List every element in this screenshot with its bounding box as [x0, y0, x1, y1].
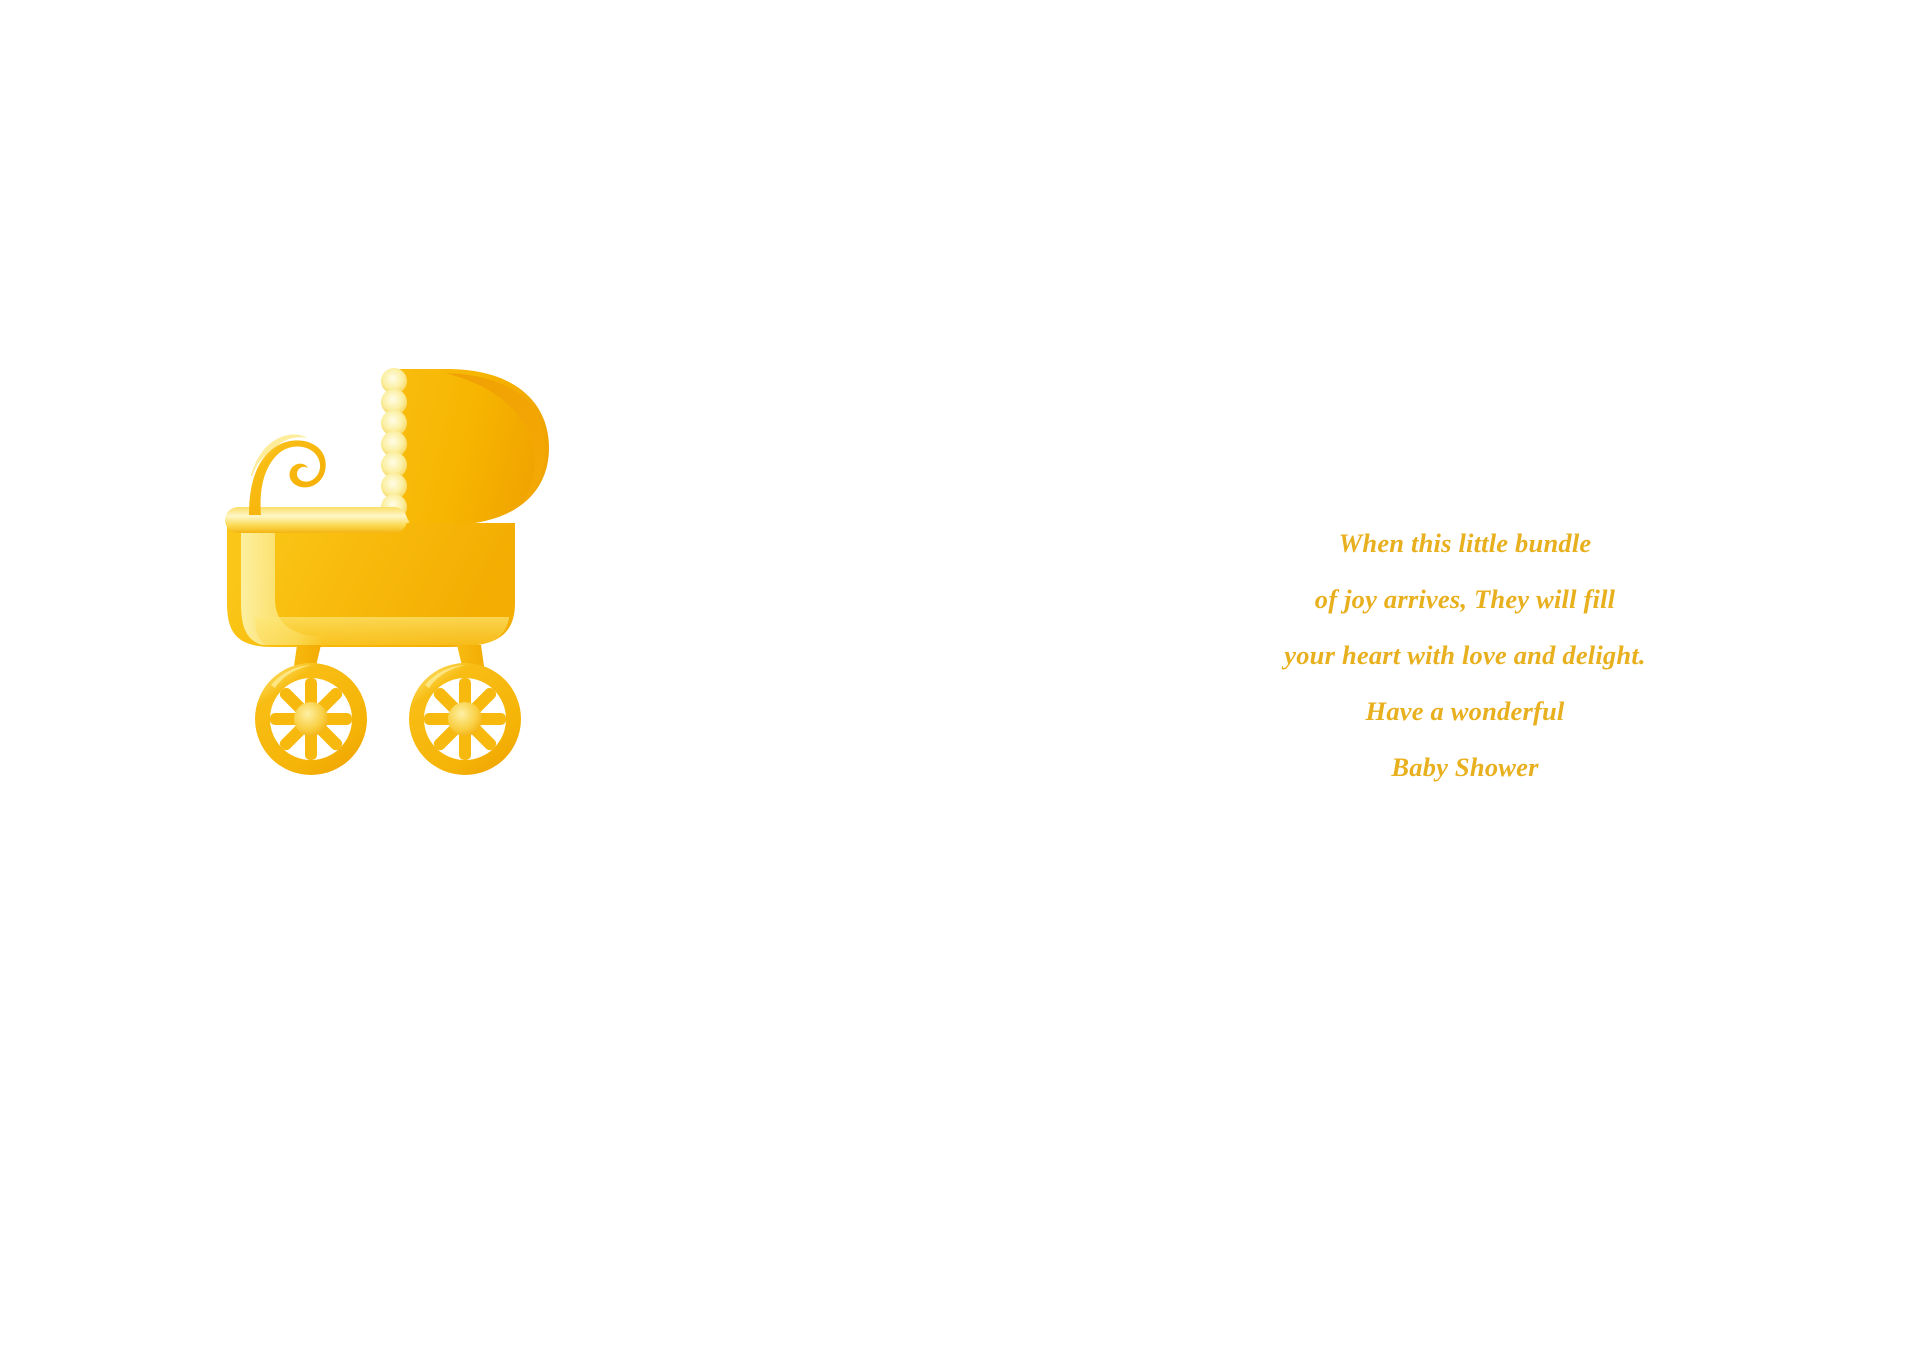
pram-basket-group: [227, 523, 515, 647]
pram-handle: [249, 434, 326, 515]
baby-pram-illustration: [145, 355, 575, 795]
verse-line-1: When this little bundle: [1215, 515, 1715, 571]
greeting-card-canvas: When this little bundle of joy arrives, …: [0, 0, 1919, 1357]
pram-hood: [393, 369, 549, 525]
pram-wheel-front: [255, 663, 367, 775]
verse-line-3: your heart with love and delight.: [1215, 627, 1715, 683]
verse-line-4: Have a wonderful: [1215, 683, 1715, 739]
greeting-verse: When this little bundle of joy arrives, …: [1215, 515, 1715, 795]
pram-wheel-rear: [409, 663, 521, 775]
pram-basket-bottom-highlight: [255, 617, 515, 647]
pram-hood-group: [393, 369, 549, 525]
verse-line-2: of joy arrives, They will fill: [1215, 571, 1715, 627]
verse-line-5: Baby Shower: [1215, 739, 1715, 795]
